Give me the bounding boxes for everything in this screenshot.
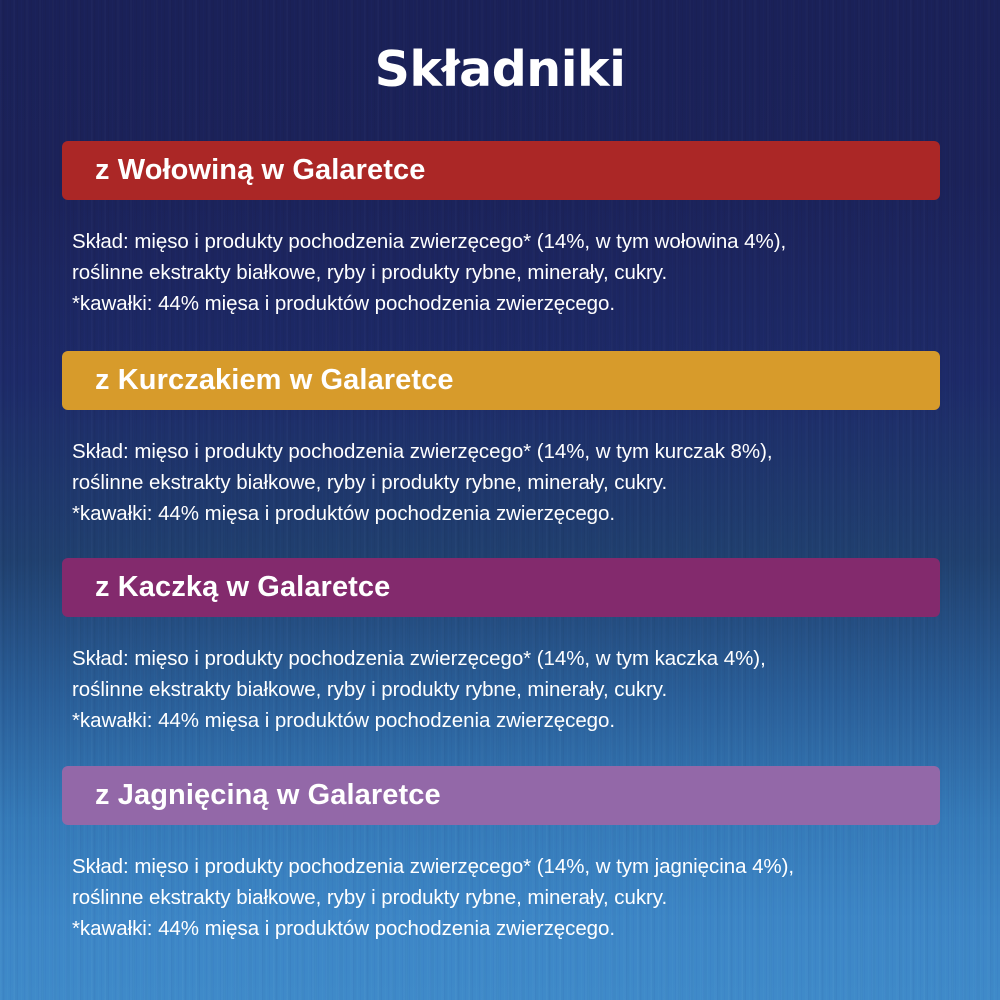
variant-banner-label-beef: z Wołowiną w Galaretce bbox=[95, 153, 425, 186]
poster-content: Składniki z Wołowiną w Galaretce Skład: … bbox=[0, 0, 1000, 1000]
ingredients-line: *kawałki: 44% mięsa i produktów pochodze… bbox=[72, 705, 952, 736]
ingredients-line: *kawałki: 44% mięsa i produktów pochodze… bbox=[72, 913, 952, 944]
ingredients-line: Skład: mięso i produkty pochodzenia zwie… bbox=[72, 643, 952, 674]
ingredients-line: *kawałki: 44% mięsa i produktów pochodze… bbox=[72, 498, 952, 529]
ingredients-line: *kawałki: 44% mięsa i produktów pochodze… bbox=[72, 288, 952, 319]
ingredients-text-chicken: Skład: mięso i produkty pochodzenia zwie… bbox=[72, 436, 952, 529]
ingredients-poster: Składniki z Wołowiną w Galaretce Skład: … bbox=[0, 0, 1000, 1000]
ingredients-line: Skład: mięso i produkty pochodzenia zwie… bbox=[72, 436, 952, 467]
variant-banner-label-duck: z Kaczką w Galaretce bbox=[95, 570, 390, 603]
ingredients-line: roślinne ekstrakty białkowe, ryby i prod… bbox=[72, 882, 952, 913]
variant-banner-beef: z Wołowiną w Galaretce bbox=[62, 141, 940, 200]
variant-banner-duck: z Kaczką w Galaretce bbox=[62, 558, 940, 617]
ingredients-text-duck: Skład: mięso i produkty pochodzenia zwie… bbox=[72, 643, 952, 736]
ingredients-line: Skład: mięso i produkty pochodzenia zwie… bbox=[72, 851, 952, 882]
ingredients-line: roślinne ekstrakty białkowe, ryby i prod… bbox=[72, 257, 952, 288]
ingredients-line: roślinne ekstrakty białkowe, ryby i prod… bbox=[72, 674, 952, 705]
variant-banner-label-lamb: z Jagnięciną w Galaretce bbox=[95, 778, 441, 811]
ingredients-line: roślinne ekstrakty białkowe, ryby i prod… bbox=[72, 467, 952, 498]
variant-banner-chicken: z Kurczakiem w Galaretce bbox=[62, 351, 940, 410]
variant-banner-lamb: z Jagnięciną w Galaretce bbox=[62, 766, 940, 825]
page-title: Składniki bbox=[0, 41, 1000, 98]
ingredients-text-lamb: Skład: mięso i produkty pochodzenia zwie… bbox=[72, 851, 952, 944]
variant-banner-label-chicken: z Kurczakiem w Galaretce bbox=[95, 363, 454, 396]
ingredients-text-beef: Skład: mięso i produkty pochodzenia zwie… bbox=[72, 226, 952, 319]
ingredients-line: Skład: mięso i produkty pochodzenia zwie… bbox=[72, 226, 952, 257]
